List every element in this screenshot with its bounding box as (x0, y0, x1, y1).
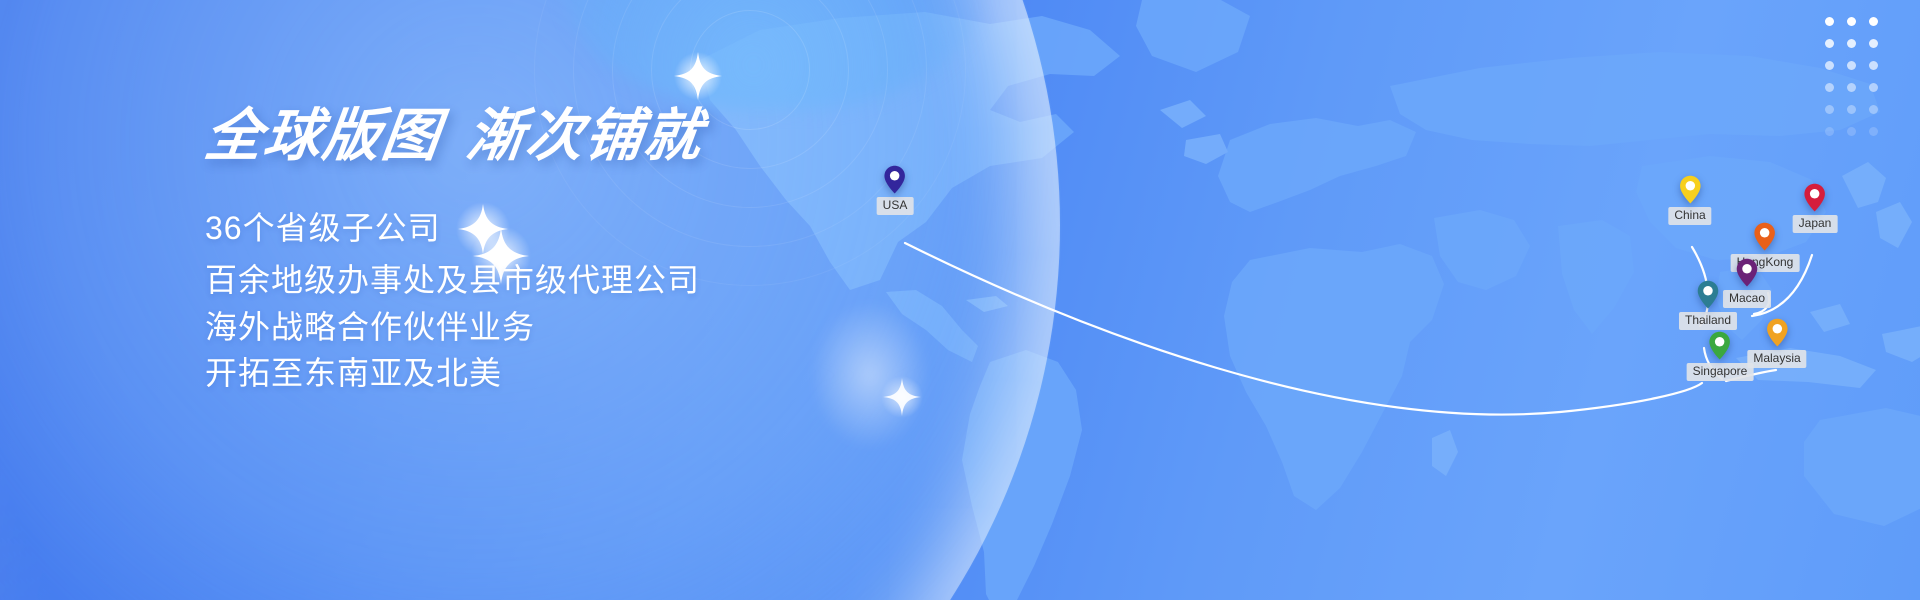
map-marker-malaysia[interactable]: Malaysia (1747, 318, 1806, 368)
subtitle-line-1-text: 36个省级子公司 (205, 205, 441, 252)
banner-copy-block: 全球版图渐次铺就 36个省级子公司 百余地级办事处及县市级代理公司 海外战略合作… (205, 108, 703, 397)
global-footprint-banner: USAChinaJapanHongKongMacaoThailandSingap… (0, 0, 1920, 600)
subtitle-line-4: 开拓至东南亚及北美 (205, 350, 703, 397)
page-title: 全球版图渐次铺就 (202, 108, 707, 165)
map-marker-china[interactable]: China (1668, 175, 1711, 225)
location-pin-icon (1804, 183, 1826, 212)
headline-part-1: 全球版图 (201, 104, 445, 168)
location-pin-icon (1766, 318, 1788, 347)
map-marker-label: Singapore (1687, 363, 1754, 381)
map-marker-label: China (1668, 207, 1711, 225)
map-marker-singapore[interactable]: Singapore (1687, 331, 1754, 381)
location-pin-icon (1679, 175, 1701, 204)
subtitle-line-3: 海外战略合作伙伴业务 (205, 304, 703, 351)
map-marker-usa[interactable]: USA (877, 165, 914, 215)
location-pin-icon (884, 165, 906, 194)
map-marker-label: Thailand (1679, 312, 1737, 330)
location-pin-icon (1754, 222, 1776, 251)
location-pin-icon (1736, 258, 1758, 287)
headline-part-2: 渐次铺就 (463, 104, 707, 168)
map-marker-thailand[interactable]: Thailand (1679, 280, 1737, 330)
subtitle-line-2: 百余地级办事处及县市级代理公司 (205, 257, 703, 304)
sparkle-star-icon (455, 199, 511, 257)
location-pin-icon (1697, 280, 1719, 309)
map-marker-label: Malaysia (1747, 350, 1806, 368)
location-pin-icon (1709, 331, 1731, 360)
subtitle-line-1: 36个省级子公司 (205, 199, 703, 257)
map-marker-label: USA (877, 197, 914, 215)
